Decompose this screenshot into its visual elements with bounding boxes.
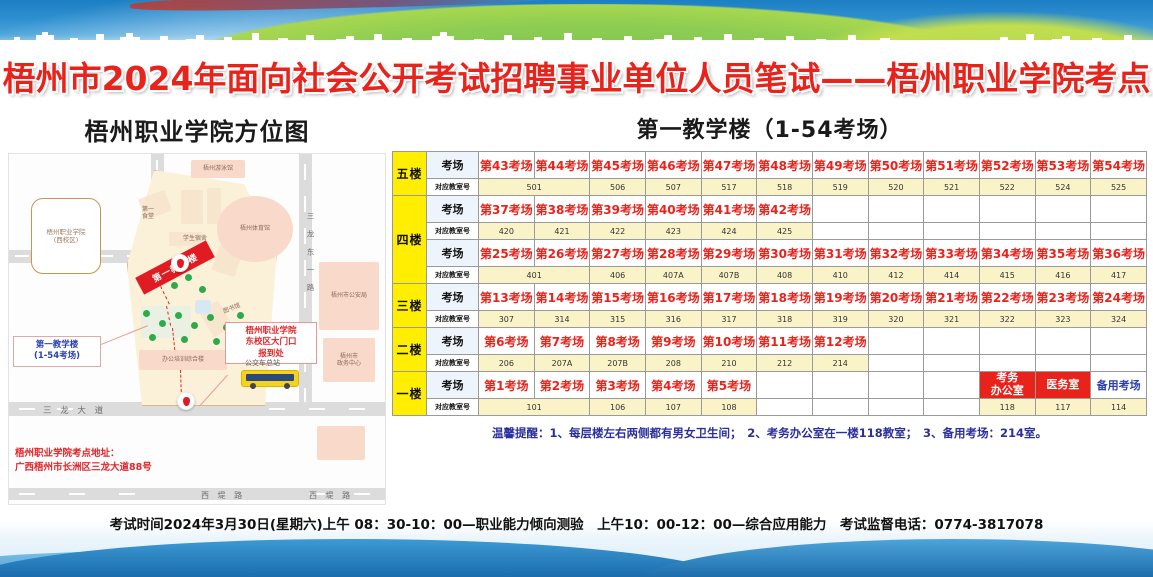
floor-label: 四楼 — [393, 196, 427, 284]
hall-cell: 第51考场 — [924, 152, 980, 179]
hall-cell: 第23考场 — [1035, 284, 1091, 311]
building-student-dorm: 学生宿舍 — [175, 232, 215, 246]
road-label-sanlong-east: 三 龙 东 一 路 — [305, 212, 316, 295]
hall-cell: 第40考场 — [645, 196, 701, 223]
spare-room-cell: 备用考场 — [1091, 372, 1147, 399]
room-number-cell: 501 — [479, 179, 590, 196]
address-block: 梧州职业学院考点地址： 广西梧州市长洲区三龙大道88号 — [15, 447, 247, 476]
room-cell-empty — [924, 399, 980, 416]
room-number-cell: 401 — [479, 267, 590, 284]
table-row: 考场第25考场第26考场第27考场第28考场第29考场第30考场第31考场第32… — [393, 240, 1147, 267]
hall-cell: 第45考场 — [590, 152, 646, 179]
bus-icon — [241, 370, 299, 387]
room-number-cell: 412 — [868, 267, 924, 284]
table-row: 一楼考场第1考场第2考场第3考场第4考场第5考场考务办公室医务室备用考场 — [393, 372, 1147, 399]
hall-cell-empty — [1035, 196, 1091, 223]
hall-cell-empty — [868, 372, 924, 399]
hall-cell: 第34考场 — [979, 240, 1035, 267]
hall-cell: 第50考场 — [868, 152, 924, 179]
hall-cell: 第1考场 — [479, 372, 535, 399]
room-number-cell: 315 — [590, 311, 646, 328]
hall-cell: 第35考场 — [1035, 240, 1091, 267]
row-label-room: 对应教室号 — [427, 355, 479, 372]
room-number-cell: 320 — [868, 311, 924, 328]
room-cell-empty — [1091, 223, 1147, 240]
room-number-cell: 214 — [812, 355, 868, 372]
hall-cell: 第7考场 — [534, 328, 590, 355]
hall-cell: 第36考场 — [1091, 240, 1147, 267]
hall-cell: 第5考场 — [701, 372, 757, 399]
room-cell-empty — [924, 355, 980, 372]
hall-cell-empty — [868, 196, 924, 223]
room-number-cell: 518 — [757, 179, 813, 196]
page-title: 梧州市2024年面向社会公开考试招聘事业单位人员笔试——梧州职业学院考点 — [3, 52, 1151, 100]
room-number-cell: 417 — [1091, 267, 1147, 284]
exam-room-table-section: 第一教学楼（1-54考场） 五楼考场第43考场第44考场第45考场第46考场第4… — [392, 112, 1147, 441]
hall-cell: 第54考场 — [1091, 152, 1147, 179]
room-cell-empty — [812, 223, 868, 240]
room-number-cell: 521 — [924, 179, 980, 196]
table-row: 对应教室号30731431531631731831932032132232332… — [393, 311, 1147, 328]
hall-cell-empty — [924, 372, 980, 399]
map-pin-gate — [177, 392, 195, 410]
hall-cell: 第49考场 — [812, 152, 868, 179]
hall-cell-empty — [1091, 328, 1147, 355]
room-number-cell: 323 — [1035, 311, 1091, 328]
special-room-cell: 考务办公室 — [979, 372, 1035, 399]
room-number-cell: 319 — [812, 311, 868, 328]
room-cell-empty — [868, 223, 924, 240]
room-cell-empty — [979, 355, 1035, 372]
room-number-cell: 406 — [590, 267, 646, 284]
hall-cell-empty — [868, 328, 924, 355]
building-public-security: 梧州市公安局 — [319, 262, 379, 330]
building-first-canteen: 第一 食堂 — [135, 202, 161, 224]
hall-cell: 第9考场 — [645, 328, 701, 355]
hall-cell: 第16考场 — [645, 284, 701, 311]
hall-cell: 第30考场 — [757, 240, 813, 267]
room-number-cell: 106 — [590, 399, 646, 416]
room-number-cell: 212 — [757, 355, 813, 372]
callout-teaching-building: 第一教学楼 (1-54考场) — [13, 336, 101, 367]
room-cell-empty — [812, 399, 868, 416]
row-label-room: 对应教室号 — [427, 399, 479, 416]
special-room-cell: 医务室 — [1035, 372, 1091, 399]
hall-cell-empty — [1091, 196, 1147, 223]
hall-cell: 第10考场 — [701, 328, 757, 355]
floor-label: 三楼 — [393, 284, 427, 328]
hall-cell: 第20考场 — [868, 284, 924, 311]
campus-map-section: 梧州职业学院方位图 — [8, 112, 386, 512]
hall-cell: 第37考场 — [479, 196, 535, 223]
building-west-campus: 梧州职业学院 (西校区) — [31, 198, 101, 274]
room-number-cell: 524 — [1035, 179, 1091, 196]
room-number-cell: 206 — [479, 355, 535, 372]
hall-cell: 第18考场 — [757, 284, 813, 311]
room-number-cell: 506 — [590, 179, 646, 196]
table-title: 第一教学楼（1-54考场） — [392, 112, 1147, 144]
table-row: 对应教室号501506507517518519520521522524525 — [393, 179, 1147, 196]
hall-cell: 第43考场 — [479, 152, 535, 179]
hall-cell: 第27考场 — [590, 240, 646, 267]
hall-cell-empty — [979, 328, 1035, 355]
room-number-cell: 425 — [757, 223, 813, 240]
table-row: 四楼考场第37考场第38考场第39考场第40考场第41考场第42考场 — [393, 196, 1147, 223]
hall-cell: 第53考场 — [1035, 152, 1091, 179]
room-number-cell: 118 — [979, 399, 1035, 416]
hall-cell: 第29考场 — [701, 240, 757, 267]
hall-cell: 第33考场 — [924, 240, 980, 267]
hall-cell: 第11考场 — [757, 328, 813, 355]
table-row: 五楼考场第43考场第44考场第45考场第46考场第47考场第48考场第49考场第… — [393, 152, 1147, 179]
hall-cell-empty — [757, 372, 813, 399]
hall-cell: 第32考场 — [868, 240, 924, 267]
table-row: 三楼考场第13考场第14考场第15考场第16考场第17考场第18考场第19考场第… — [393, 284, 1147, 311]
bus-station-label: 公交车总站 — [245, 358, 280, 368]
room-number-cell: 525 — [1091, 179, 1147, 196]
room-number-cell: 407A — [645, 267, 701, 284]
hall-cell: 第48考场 — [757, 152, 813, 179]
room-number-cell: 517 — [701, 179, 757, 196]
room-number-cell: 318 — [757, 311, 813, 328]
hall-cell-empty — [924, 328, 980, 355]
room-number-cell: 117 — [1035, 399, 1091, 416]
room-number-cell: 324 — [1091, 311, 1147, 328]
hall-cell: 第38考场 — [534, 196, 590, 223]
room-number-cell: 416 — [1035, 267, 1091, 284]
hall-cell-empty — [812, 196, 868, 223]
hall-cell: 第24考场 — [1091, 284, 1147, 311]
hall-cell: 第4考场 — [645, 372, 701, 399]
room-number-cell: 114 — [1091, 399, 1147, 416]
room-number-cell: 208 — [645, 355, 701, 372]
floor-label: 一楼 — [393, 372, 427, 416]
room-number-cell: 210 — [701, 355, 757, 372]
room-number-cell: 507 — [645, 179, 701, 196]
room-number-cell: 421 — [534, 223, 590, 240]
row-label-hall: 考场 — [427, 196, 479, 223]
row-label-hall: 考场 — [427, 328, 479, 355]
table-row: 二楼考场第6考场第7考场第8考场第9考场第10考场第11考场第12考场 — [393, 328, 1147, 355]
floor-label: 五楼 — [393, 152, 427, 196]
table-row: 对应教室号101106107108118117114 — [393, 399, 1147, 416]
hall-cell: 第31考场 — [812, 240, 868, 267]
hall-cell-empty — [812, 372, 868, 399]
room-number-cell: 107 — [645, 399, 701, 416]
map-canvas: 三 龙 东 一 路 三 龙 大 道 西 堤 路 西 堤 路 浔 江 梧州游泳馆 … — [8, 153, 386, 505]
ghost-shape-2 — [181, 190, 203, 224]
title-bar: 梧州市2024年面向社会公开考试招聘事业单位人员笔试——梧州职业学院考点 — [0, 48, 1153, 104]
map-title: 梧州职业学院方位图 — [8, 112, 386, 147]
row-label-room: 对应教室号 — [427, 311, 479, 328]
room-number-cell: 317 — [701, 311, 757, 328]
room-number-cell: 207A — [534, 355, 590, 372]
hall-cell: 第39考场 — [590, 196, 646, 223]
room-cell-empty — [1091, 355, 1147, 372]
room-number-cell: 307 — [479, 311, 535, 328]
table-row: 对应教室号401406407A407B408410412414415416417 — [393, 267, 1147, 284]
hall-cell: 第25考场 — [479, 240, 535, 267]
room-number-cell: 322 — [979, 311, 1035, 328]
room-number-cell: 410 — [812, 267, 868, 284]
wave-1 — [0, 539, 740, 577]
room-cell-empty — [979, 223, 1035, 240]
hall-cell: 第28考场 — [645, 240, 701, 267]
hall-cell: 第14考场 — [534, 284, 590, 311]
hall-cell: 第26考场 — [534, 240, 590, 267]
room-number-cell: 316 — [645, 311, 701, 328]
room-number-cell: 101 — [479, 399, 590, 416]
table-row: 对应教室号420421422423424425 — [393, 223, 1147, 240]
row-label-room: 对应教室号 — [427, 223, 479, 240]
floor-label: 二楼 — [393, 328, 427, 372]
room-cell-empty — [757, 399, 813, 416]
row-label-hall: 考场 — [427, 240, 479, 267]
road-label-xidi-right: 西 堤 路 — [201, 490, 245, 501]
building-office-training: 办公培训综合楼 — [139, 350, 227, 370]
hall-cell: 第2考场 — [534, 372, 590, 399]
address-line-1: 梧州职业学院考点地址： — [15, 447, 247, 462]
room-number-cell: 408 — [757, 267, 813, 284]
hall-cell: 第52考场 — [979, 152, 1035, 179]
room-number-cell: 520 — [868, 179, 924, 196]
hall-cell: 第47考场 — [701, 152, 757, 179]
hall-cell: 第15考场 — [590, 284, 646, 311]
hall-cell-empty — [924, 196, 980, 223]
road-label-xidi-left: 西 堤 路 — [309, 490, 353, 501]
hall-cell-empty — [979, 196, 1035, 223]
building-swimming-pool: 梧州游泳馆 — [191, 160, 245, 178]
room-cell-empty — [868, 399, 924, 416]
room-number-cell: 422 — [590, 223, 646, 240]
room-number-cell: 519 — [812, 179, 868, 196]
hall-cell: 第22考场 — [979, 284, 1035, 311]
hall-cell: 第3考场 — [590, 372, 646, 399]
room-number-cell: 207B — [590, 355, 646, 372]
hall-cell: 第21考场 — [924, 284, 980, 311]
tips-text: 温馨提醒：1、每层楼左右两侧都有男女卫生间； 2、考务办公室在一楼118教室； … — [392, 425, 1147, 441]
hall-cell: 第19考场 — [812, 284, 868, 311]
row-label-room: 对应教室号 — [427, 179, 479, 196]
content-area: 梧州职业学院方位图 — [0, 104, 1153, 525]
hall-cell: 第17考场 — [701, 284, 757, 311]
exam-schedule-note: 考试时间2024年3月30日(星期六)上午 08：30-10：00—职业能力倾向… — [0, 513, 1153, 533]
hall-cell-empty — [1035, 328, 1091, 355]
row-label-hall: 考场 — [427, 152, 479, 179]
room-number-cell: 407B — [701, 267, 757, 284]
room-number-cell: 420 — [479, 223, 535, 240]
hall-cell: 第42考场 — [757, 196, 813, 223]
hall-cell: 第12考场 — [812, 328, 868, 355]
room-cell-empty — [1035, 355, 1091, 372]
exam-room-table: 五楼考场第43考场第44考场第45考场第46考场第47考场第48考场第49考场第… — [392, 151, 1147, 416]
room-cell-empty — [868, 355, 924, 372]
hall-cell: 第41考场 — [701, 196, 757, 223]
room-number-cell: 321 — [924, 311, 980, 328]
table-row: 对应教室号206207A207B208210212214 — [393, 355, 1147, 372]
room-number-cell: 108 — [701, 399, 757, 416]
hall-cell: 第44考场 — [534, 152, 590, 179]
address-line-2: 广西梧州市长洲区三龙大道88号 — [15, 461, 247, 476]
room-number-cell: 314 — [534, 311, 590, 328]
room-cell-empty — [1035, 223, 1091, 240]
room-number-cell: 423 — [645, 223, 701, 240]
wave-3 — [633, 539, 1153, 577]
room-number-cell: 424 — [701, 223, 757, 240]
row-label-room: 对应教室号 — [427, 267, 479, 284]
building-stadium: 梧州体育馆 — [217, 196, 293, 262]
room-number-cell: 414 — [924, 267, 980, 284]
building-government-center: 梧州市 政务中心 — [323, 338, 375, 382]
map-pond — [195, 300, 211, 314]
hall-cell: 第6考场 — [479, 328, 535, 355]
map-pin-teaching-building — [171, 254, 189, 272]
hall-cell: 第13考场 — [479, 284, 535, 311]
room-cell-empty — [924, 223, 980, 240]
row-label-hall: 考场 — [427, 372, 479, 399]
row-label-hall: 考场 — [427, 284, 479, 311]
hall-cell: 第46考场 — [645, 152, 701, 179]
road-label-sanlong-avenue: 三 龙 大 道 — [43, 404, 106, 416]
building-south-block — [317, 426, 365, 460]
room-number-cell: 522 — [979, 179, 1035, 196]
room-number-cell: 415 — [979, 267, 1035, 284]
hall-cell: 第8考场 — [590, 328, 646, 355]
